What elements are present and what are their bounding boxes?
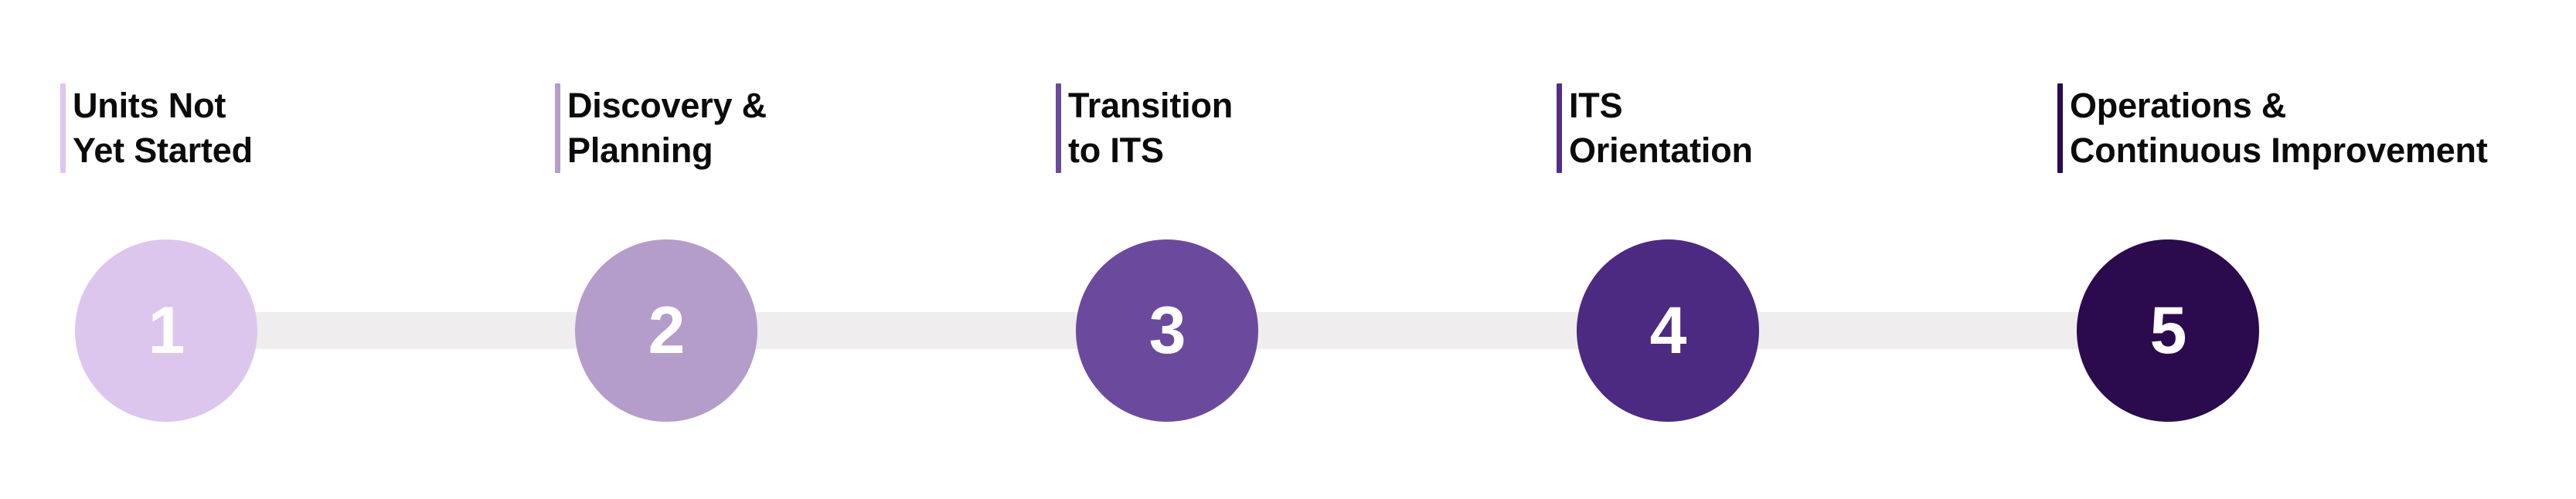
step-circle-4[interactable]: 4 (1577, 239, 1759, 422)
step-number-1: 1 (148, 297, 185, 364)
step-circle-3[interactable]: 3 (1076, 239, 1258, 422)
step-circle-1[interactable]: 1 (75, 239, 257, 422)
step-circle-2[interactable]: 2 (575, 239, 757, 422)
step-number-3: 3 (1149, 297, 1186, 364)
step-progress-tracker: Units Not Yet Started Discovery & Planni… (0, 0, 2576, 499)
step-circle-5[interactable]: 5 (2077, 239, 2259, 422)
step-number-5: 5 (2150, 297, 2186, 364)
step-circles-row: 1 2 3 4 5 (0, 0, 2576, 499)
step-number-2: 2 (648, 297, 685, 364)
step-number-4: 4 (1650, 297, 1686, 364)
